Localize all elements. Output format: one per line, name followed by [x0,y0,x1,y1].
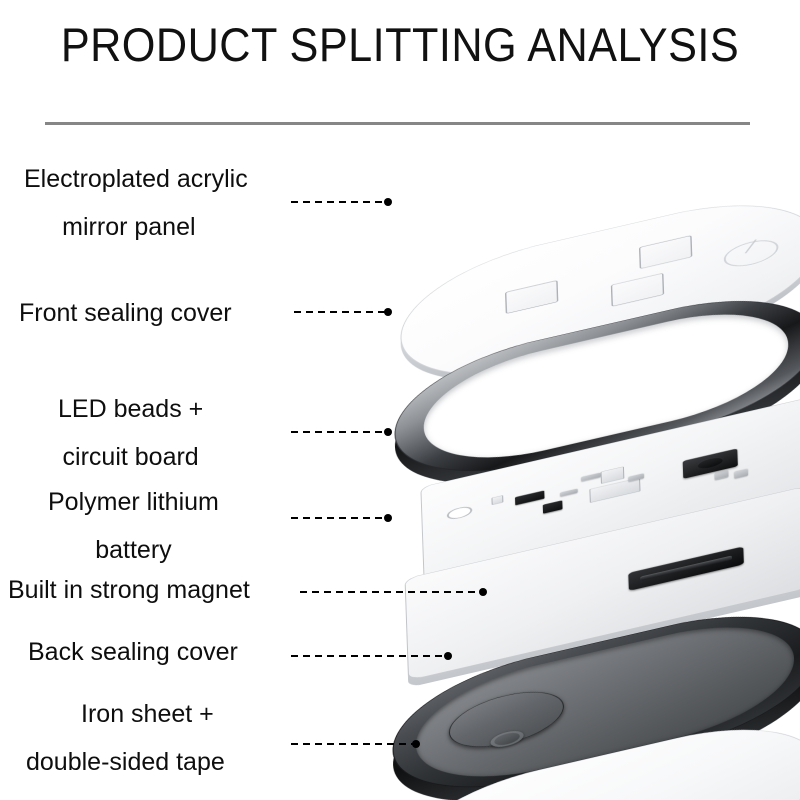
product-splitting-analysis-page: PRODUCT SPLITTING ANALYSIS [0,0,800,800]
leader-endpoint-dot [384,308,392,316]
callout-line-1: LED beads + [58,385,203,433]
leader-endpoint-dot [479,588,487,596]
leader-endpoint-dot [412,740,420,748]
callout-label-led-circuit-board: LED beads + circuit board [58,385,203,481]
callout-line-1: Electroplated acrylic [24,155,248,203]
callout-label-iron-sheet-tape: Iron sheet + double-sided tape [26,690,225,786]
callout-line-2: circuit board [58,433,203,481]
callout-line-2: mirror panel [24,203,248,251]
title-divider [45,122,750,125]
callout-label-strong-magnet: Built in strong magnet [8,572,250,609]
iron-sheet-face [398,706,800,800]
leader-line-polymer-battery [291,517,389,519]
leader-endpoint-dot [384,514,392,522]
leader-line-strong-magnet [300,591,484,593]
callout-line-1: Polymer lithium [48,478,219,526]
callout-label-back-sealing-cover: Back sealing cover [28,634,238,671]
leader-endpoint-dot [384,198,392,206]
leader-line-front-sealing-cover [294,311,389,313]
callout-line-1: Iron sheet + [26,690,225,738]
callout-line-2: double-sided tape [26,738,225,786]
callout-label-mirror-panel: Electroplated acrylic mirror panel [24,155,248,251]
exploded-product-illustration [395,140,800,790]
page-title: PRODUCT SPLITTING ANALYSIS [32,14,768,76]
leader-line-back-sealing-cover [291,655,449,657]
callout-label-polymer-battery: Polymer lithium battery [48,478,219,574]
callout-label-front-sealing-cover: Front sealing cover [19,295,232,332]
leader-endpoint-dot [444,652,452,660]
leader-line-led-circuit-board [291,431,389,433]
leader-line-iron-sheet-tape [291,743,417,745]
leader-endpoint-dot [384,428,392,436]
callout-line-2: battery [48,526,219,574]
leader-line-mirror-panel [291,201,389,203]
layer-iron-sheet [395,668,800,800]
